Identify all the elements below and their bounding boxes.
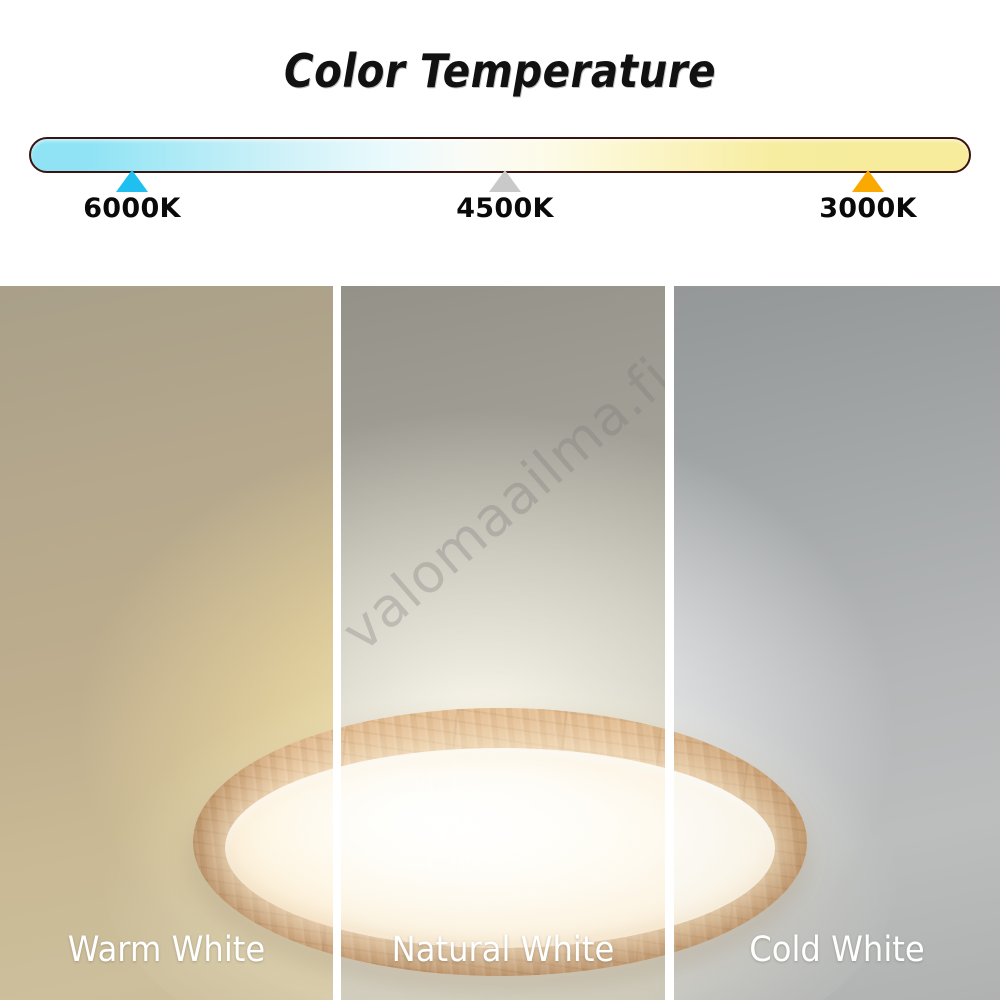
infographic-root: Color Temperature 6000K 4500K 3000K [0,0,1000,1000]
color-temperature-scale [29,137,971,173]
scene-natural: valomaailma.fi [341,286,665,1000]
scene-warm: valomaailma.fi [0,286,333,1000]
panel-caption-natural-white: Natural White [354,930,652,970]
kelvin-label-6000k: 6000K [32,193,232,224]
marker-triangle-4500k [489,170,521,192]
kelvin-label-3000k: 3000K [768,193,968,224]
comparison-photo-strip: valomaailma.fi Warm White [0,286,1000,1000]
page-title: Color Temperature [60,44,940,98]
kelvin-label-4500k: 4500K [405,193,605,224]
marker-triangle-3000k [852,170,884,192]
panel-caption-warm-white: Warm White [13,930,319,970]
scene-cold: valomaailma.fi [674,286,1000,1000]
lamp-diffuser-tint [341,748,665,948]
panel-natural-white: valomaailma.fi Natural White [341,286,665,1000]
marker-triangle-6000k [116,170,148,192]
panel-cold-white: valomaailma.fi Cold White [674,286,1000,1000]
temperature-gradient-bar [29,137,971,173]
panel-caption-cold-white: Cold White [687,930,987,970]
panel-warm-white: valomaailma.fi Warm White [0,286,333,1000]
